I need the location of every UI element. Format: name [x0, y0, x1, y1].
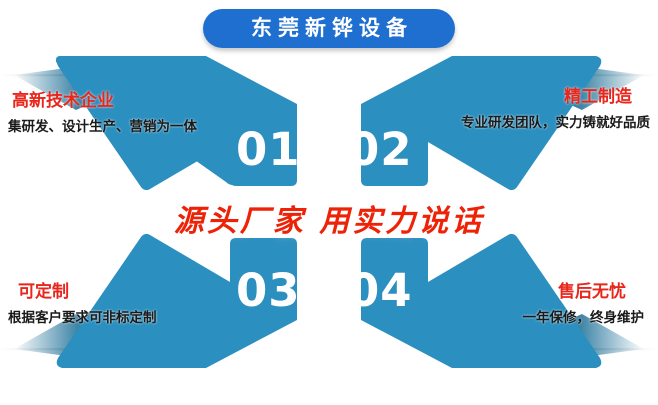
- feature-subtitle-04: 一年保修，终身维护: [523, 311, 645, 326]
- feature-heading-01: 高新技术企业: [12, 92, 197, 111]
- feature-block-top-right: 精工制造 专业研发团队，实力铸就好品质: [461, 88, 650, 131]
- feature-heading-02: 精工制造: [461, 88, 632, 107]
- step-number-01: 01: [236, 127, 301, 172]
- step-number-04: 04: [348, 268, 413, 313]
- infographic-canvas: 东莞新铧设备 01 02 03 04 高新技术企业 集研发、设计生产、营销为一体…: [0, 0, 658, 405]
- company-banner-title: 东莞新铧设备: [245, 18, 413, 39]
- feature-block-bottom-left: 可定制 根据客户要求可非标定制: [8, 283, 157, 326]
- step-number-02: 02: [348, 127, 413, 172]
- feature-subtitle-01: 集研发、设计生产、营销为一体: [8, 120, 197, 135]
- company-banner: 东莞新铧设备: [203, 9, 455, 48]
- feature-heading-04: 售后无忧: [523, 283, 627, 302]
- feature-subtitle-03: 根据客户要求可非标定制: [8, 311, 157, 326]
- arrow-graphics-layer: [0, 0, 658, 405]
- feature-subtitle-02: 专业研发团队，实力铸就好品质: [461, 116, 650, 131]
- feature-block-bottom-right: 售后无忧 一年保修，终身维护: [523, 283, 651, 326]
- feature-block-top-left: 高新技术企业 集研发、设计生产、营销为一体: [8, 92, 197, 135]
- feature-heading-03: 可定制: [18, 283, 157, 302]
- center-tagline: 源头厂家 用实力说话: [0, 205, 658, 240]
- step-number-03: 03: [236, 268, 301, 313]
